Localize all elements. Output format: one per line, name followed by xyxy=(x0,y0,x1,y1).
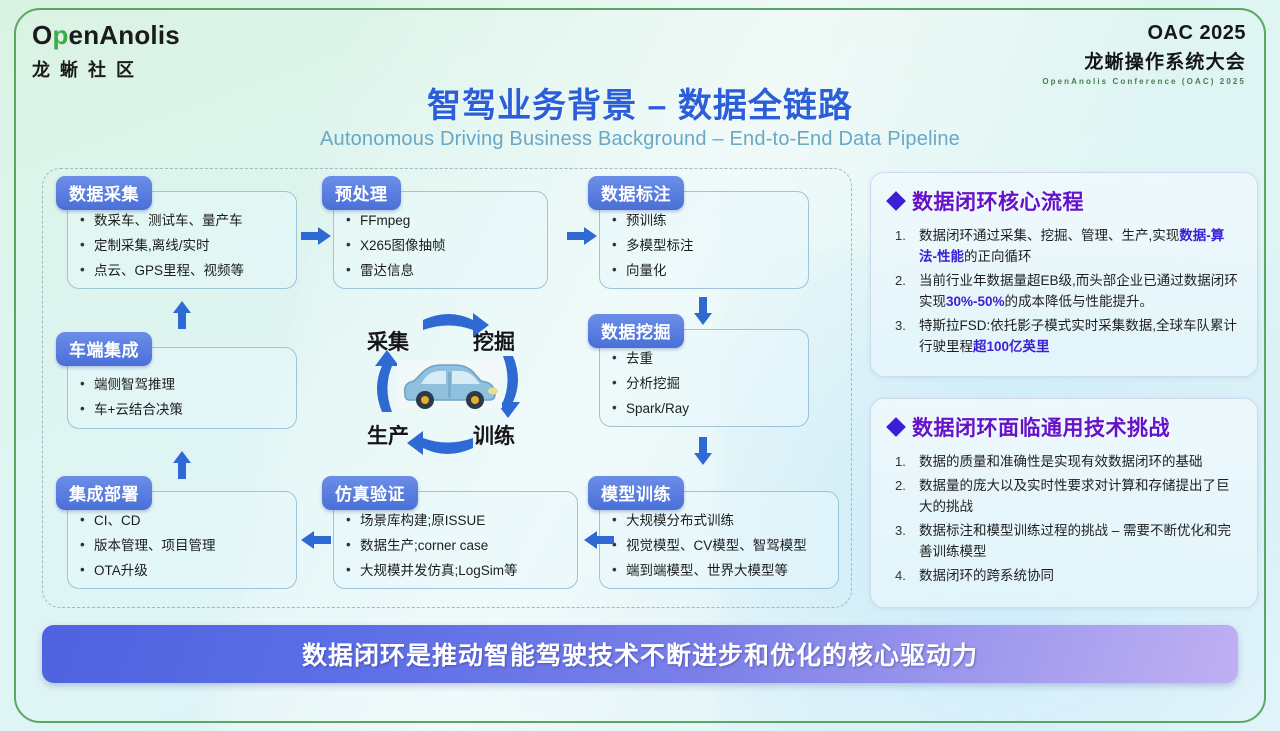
list-item: 数据的质量和准确性是实现有效数据闭环的基础 xyxy=(893,452,1241,473)
openanolis-logo: OpenAnolis 龙蜥社区 xyxy=(32,22,180,82)
diamond-bullet-icon xyxy=(886,191,906,211)
list-item: 当前行业年数据量超EB级,而头部企业已通过数据闭环实现30%-50%的成本降低与… xyxy=(893,271,1241,313)
text-part: 特斯拉FSD:依托影子模式实时采集数据,全球车队累计行驶里程 xyxy=(919,318,1237,354)
car-icon xyxy=(397,356,502,414)
card-technical-challenges: 数据闭环面临通用技术挑战 数据的质量和准确性是实现有效数据闭环的基础 数据量的庞… xyxy=(870,398,1258,608)
flow-node-title: 数据采集 xyxy=(56,176,152,210)
list-item: 端侧智驾推理 xyxy=(94,378,296,392)
conference-name: OAC 2025 xyxy=(1042,22,1246,45)
text-part: 的正向循环 xyxy=(964,249,1032,264)
arrow-collect-to-preprocess xyxy=(301,227,331,245)
flow-node-title: 车端集成 xyxy=(56,332,152,366)
list-item: X265图像抽帧 xyxy=(360,239,547,253)
flow-node-simulation-validation[interactable]: 仿真验证 场景库构建;原ISSUE 数据生产;corner case 大规模并发… xyxy=(333,491,578,589)
list-item: 数据标注和模型训练过程的挑战 – 需要不断优化和完善训练模型 xyxy=(893,521,1241,563)
text-highlight: 超100亿英里 xyxy=(973,339,1050,354)
list-item: 大规模并发仿真;LogSim等 xyxy=(360,564,577,578)
arrow-mining-to-training xyxy=(694,437,712,465)
summary-banner-text: 数据闭环是推动智能驾驶技术不断进步和优化的核心驱动力 xyxy=(302,636,978,672)
flow-node-title: 数据挖掘 xyxy=(588,314,684,348)
text-highlight: 30%-50% xyxy=(946,294,1005,309)
flow-node-title: 仿真验证 xyxy=(322,476,418,510)
list-item: 视觉模型、CV模型、智驾模型 xyxy=(626,539,838,553)
arrow-simulation-to-deployment xyxy=(301,531,331,549)
list-item: OTA升级 xyxy=(94,564,296,578)
card-header: 数据闭环面临通用技术挑战 xyxy=(871,399,1257,446)
flow-node-title: 预处理 xyxy=(322,176,401,210)
flow-node-model-training[interactable]: 模型训练 大规模分布式训练 视觉模型、CV模型、智驾模型 端到端模型、世界大模型… xyxy=(599,491,839,589)
list-item: 雷达信息 xyxy=(360,264,547,278)
list-item: 数采车、测试车、量产车 xyxy=(94,214,296,228)
list-item: 向量化 xyxy=(626,264,808,278)
arrow-training-to-simulation xyxy=(584,531,614,549)
list-item: 大规模分布式训练 xyxy=(626,514,838,528)
card-item-list: 数据闭环通过采集、挖掘、管理、生产,实现数据-算法-性能的正向循环 当前行业年数… xyxy=(871,226,1257,358)
list-item: FFmpeg xyxy=(360,214,547,228)
page-title: 智驾业务背景 – 数据全链路 xyxy=(0,78,1280,127)
data-closed-loop-cycle: 采集 挖掘 生产 训练 xyxy=(345,308,550,463)
card-title: 数据闭环核心流程 xyxy=(912,186,1084,216)
list-item: Spark/Ray xyxy=(626,402,808,416)
list-item: 点云、GPS里程、视频等 xyxy=(94,264,296,278)
diamond-bullet-icon xyxy=(886,417,906,437)
arrow-deployment-to-vehicle xyxy=(173,451,191,479)
list-item: CI、CD xyxy=(94,514,296,528)
list-item: 数据生产;corner case xyxy=(360,539,577,553)
flow-node-data-mining[interactable]: 数据挖掘 去重 分析挖掘 Spark/Ray xyxy=(599,329,809,427)
conference-name-cn: 龙蜥操作系统大会 xyxy=(1042,47,1246,74)
flow-node-data-annotation[interactable]: 数据标注 预训练 多模型标注 向量化 xyxy=(599,191,809,289)
card-title: 数据闭环面临通用技术挑战 xyxy=(912,412,1170,442)
list-item: 数据量的庞大以及实时性要求对计算和存储提出了巨大的挑战 xyxy=(893,476,1241,518)
list-item: 版本管理、项目管理 xyxy=(94,539,296,553)
conference-badge: OAC 2025 龙蜥操作系统大会 OpenAnolis Conference … xyxy=(1042,22,1246,86)
list-item: 去重 xyxy=(626,352,808,366)
list-item: 定制采集,离线/实时 xyxy=(94,239,296,253)
list-item: 多模型标注 xyxy=(626,239,808,253)
summary-banner: 数据闭环是推动智能驾驶技术不断进步和优化的核心驱动力 xyxy=(42,625,1238,683)
flow-node-title: 模型训练 xyxy=(588,476,684,510)
card-item-list: 数据的质量和准确性是实现有效数据闭环的基础 数据量的庞大以及实时性要求对计算和存… xyxy=(871,452,1257,587)
list-item: 车+云结合决策 xyxy=(94,403,296,417)
flow-node-title: 集成部署 xyxy=(56,476,152,510)
list-item: 特斯拉FSD:依托影子模式实时采集数据,全球车队累计行驶里程超100亿英里 xyxy=(893,316,1241,358)
list-item: 数据闭环的跨系统协同 xyxy=(893,566,1241,587)
flow-node-data-collection[interactable]: 数据采集 数采车、测试车、量产车 定制采集,离线/实时 点云、GPS里程、视频等 xyxy=(67,191,297,289)
card-header: 数据闭环核心流程 xyxy=(871,173,1257,220)
arrow-vehicle-to-collect xyxy=(173,301,191,329)
flow-node-title: 数据标注 xyxy=(588,176,684,210)
list-item: 分析挖掘 xyxy=(626,377,808,391)
page-subtitle: Autonomous Driving Business Background –… xyxy=(0,128,1280,151)
arrow-preprocess-to-annotation xyxy=(567,227,597,245)
text-part: 的成本降低与性能提升。 xyxy=(1005,294,1154,309)
list-item: 预训练 xyxy=(626,214,808,228)
logo-wordmark-rest: enAnolis xyxy=(69,20,180,50)
text-part: 数据闭环通过采集、挖掘、管理、生产,实现 xyxy=(919,228,1179,243)
flow-node-vehicle-integration[interactable]: 车端集成 端侧智驾推理 车+云结合决策 xyxy=(67,347,297,429)
flow-node-preprocess[interactable]: 预处理 FFmpeg X265图像抽帧 雷达信息 xyxy=(333,191,548,289)
logo-char-o: O xyxy=(32,20,52,50)
list-item: 场景库构建;原ISSUE xyxy=(360,514,577,528)
card-core-process: 数据闭环核心流程 数据闭环通过采集、挖掘、管理、生产,实现数据-算法-性能的正向… xyxy=(870,172,1258,377)
logo-leaf-icon: p xyxy=(52,20,68,50)
arrow-annotation-to-mining xyxy=(694,297,712,325)
flow-node-integration-deployment[interactable]: 集成部署 CI、CD 版本管理、项目管理 OTA升级 xyxy=(67,491,297,589)
logo-wordmark: OpenAnolis xyxy=(32,22,180,48)
list-item: 端到端模型、世界大模型等 xyxy=(626,564,838,578)
list-item: 数据闭环通过采集、挖掘、管理、生产,实现数据-算法-性能的正向循环 xyxy=(893,226,1241,268)
